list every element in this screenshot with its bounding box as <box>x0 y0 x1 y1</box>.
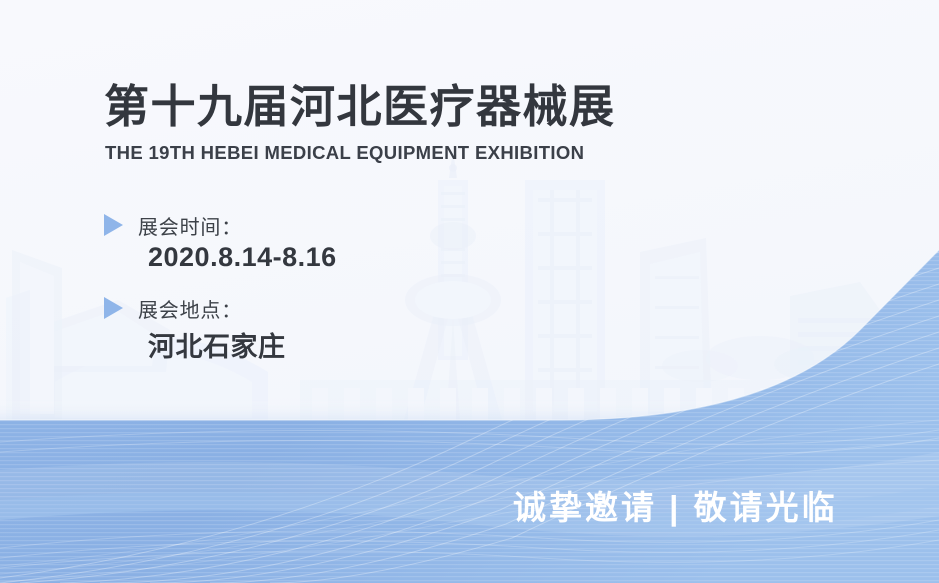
detail-label-venue: 展会地点： <box>138 294 242 323</box>
detail-value-venue: 河北石家庄 <box>148 325 337 364</box>
page-subtitle: THE 19TH HEBEI MEDICAL EQUIPMENT EXHIBIT… <box>105 142 584 164</box>
page-title: 第十九届河北医疗器械展 <box>104 82 616 132</box>
detail-row-venue: 展会地点： 河北石家庄 <box>104 295 337 364</box>
detail-row-date: 展会时间： 2020.8.14-8.16 <box>104 212 337 273</box>
detail-label-date: 展会时间： <box>138 211 242 240</box>
triangle-right-icon <box>104 214 123 236</box>
exhibition-poster: 第十九届河北医疗器械展 THE 19TH HEBEI MEDICAL EQUIP… <box>0 0 939 583</box>
poster-content: 第十九届河北医疗器械展 THE 19TH HEBEI MEDICAL EQUIP… <box>0 0 939 583</box>
event-details: 展会时间： 2020.8.14-8.16 展会地点： 河北石家庄 <box>104 212 337 386</box>
triangle-right-icon <box>104 297 123 319</box>
footer-slogan: 诚挚邀请 | 敬请光临 <box>513 481 838 529</box>
detail-value-date: 2020.8.14-8.16 <box>148 242 337 273</box>
